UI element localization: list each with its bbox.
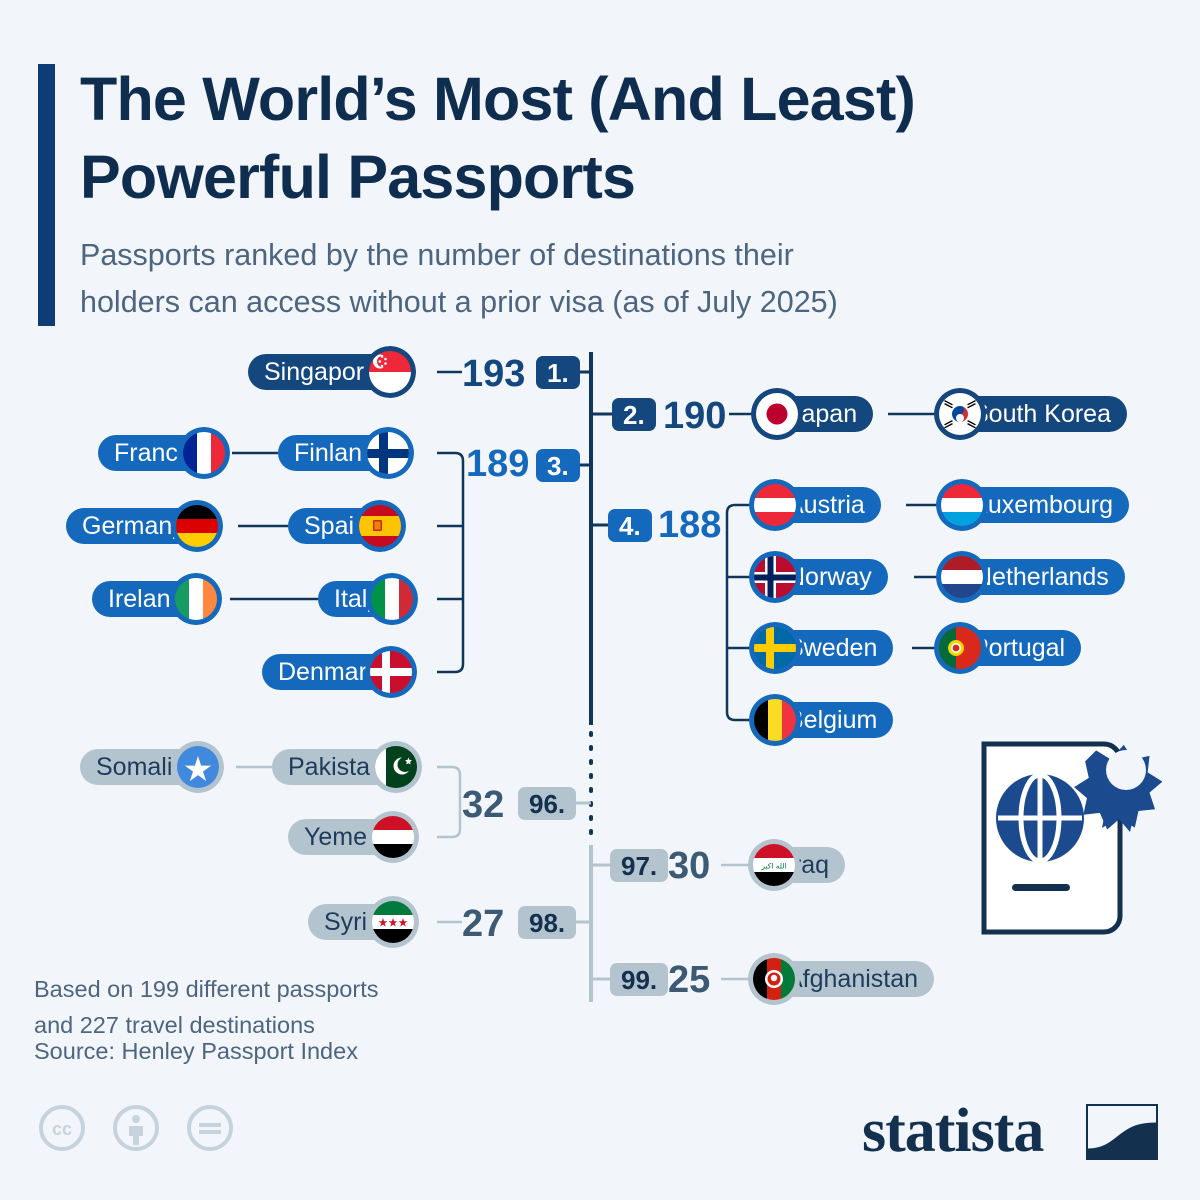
- flag-icon-ireland: [170, 573, 222, 625]
- chart-source: Source: Henley Passport Index: [34, 1038, 358, 1065]
- flag-icon-spain: [354, 500, 406, 552]
- flag-icon-south-korea: [934, 388, 986, 440]
- country-pill-syria[interactable]: Syria: [308, 904, 415, 940]
- flag-icon-france: [178, 427, 230, 479]
- country-pill-pakistan[interactable]: Pakistan: [272, 749, 418, 785]
- country-pill-afghanistan[interactable]: Afghanistan: [752, 961, 934, 997]
- flag-icon-sweden: [749, 622, 801, 674]
- flag-icon-finland: [362, 427, 414, 479]
- flag-icon-luxembourg: [936, 479, 988, 531]
- country-pill-italy[interactable]: Italy: [318, 581, 414, 617]
- value-188: 188: [658, 506, 721, 544]
- statista-logo[interactable]: statista: [862, 1096, 1162, 1170]
- rank-badge-4[interactable]: 4.: [608, 509, 652, 542]
- country-pill-france[interactable]: France: [98, 435, 226, 471]
- rank-badge-1[interactable]: 1.: [536, 356, 580, 389]
- country-pill-japan[interactable]: Japan: [755, 396, 873, 432]
- rank-badge-96[interactable]: 96.: [518, 787, 576, 820]
- country-pill-ireland[interactable]: Ireland: [92, 581, 218, 617]
- rank-badge-97[interactable]: 97.: [610, 849, 668, 882]
- value-190: 190: [663, 397, 726, 435]
- rank-badge-2[interactable]: 2.: [612, 398, 656, 431]
- country-pill-yemen[interactable]: Yemen: [288, 819, 415, 855]
- statista-wordmark: statista: [862, 1096, 1043, 1167]
- country-pill-portugal[interactable]: Portugal: [938, 630, 1081, 666]
- flag-icon-iraq: الله اكبر: [748, 839, 800, 891]
- flag-icon-belgium: [749, 694, 801, 746]
- flag-icon-japan: [751, 388, 803, 440]
- country-pill-denmark[interactable]: Denmark: [262, 654, 413, 690]
- flag-icon-afghanistan: [748, 953, 800, 1005]
- rank-badge-3[interactable]: 3.: [536, 449, 580, 482]
- passport-illustration: [966, 722, 1162, 950]
- flag-icon-denmark: [365, 646, 417, 698]
- flag-icon-italy: [366, 573, 418, 625]
- flag-icon-norway: [749, 551, 801, 603]
- country-pill-austria[interactable]: Austria: [753, 487, 881, 523]
- statista-wave-mark: [1086, 1104, 1158, 1160]
- rank-badge-98[interactable]: 98.: [518, 906, 576, 939]
- creative-commons-icon[interactable]: cc: [38, 1104, 86, 1152]
- flag-icon-portugal: [934, 622, 986, 674]
- value-25: 25: [668, 961, 710, 999]
- country-pill-finland[interactable]: Finland: [278, 435, 410, 471]
- country-pill-belgium[interactable]: Belgium: [753, 702, 893, 738]
- country-pill-south-korea[interactable]: South Korea: [938, 396, 1127, 432]
- flag-icon-austria: [749, 479, 801, 531]
- country-pill-sweden[interactable]: Sweden: [753, 630, 893, 666]
- country-pill-germany[interactable]: Germany: [66, 508, 219, 544]
- flag-icon-netherlands: [936, 551, 988, 603]
- flag-icon-yemen: [367, 811, 419, 863]
- country-pill-somalia[interactable]: Somalia: [80, 749, 220, 785]
- attribution-person-icon[interactable]: [112, 1104, 160, 1152]
- flag-icon-singapore: [364, 346, 416, 398]
- country-pill-spain[interactable]: Spain: [288, 508, 402, 544]
- footnote-line1: Based on 199 different passports: [34, 972, 554, 1008]
- value-27: 27: [462, 905, 504, 943]
- no-derivatives-equals-icon[interactable]: [186, 1104, 234, 1152]
- country-pill-norway[interactable]: Norway: [753, 559, 888, 595]
- flag-icon-syria: [367, 896, 419, 948]
- value-32: 32: [462, 786, 504, 824]
- country-pill-netherlands[interactable]: Netherlands: [940, 559, 1125, 595]
- value-193: 193: [462, 355, 525, 393]
- chart-footnote: Based on 199 different passports and 227…: [34, 972, 554, 1043]
- flag-icon-germany: [171, 500, 223, 552]
- license-icons: cc: [38, 1104, 234, 1152]
- flag-icon-pakistan: [370, 741, 422, 793]
- value-30: 30: [668, 847, 710, 885]
- rank-badge-99[interactable]: 99.: [610, 963, 668, 996]
- country-pill-luxembourg[interactable]: Luxembourg: [940, 487, 1129, 523]
- value-189: 189: [466, 445, 529, 483]
- flag-icon-somalia: [172, 741, 224, 793]
- svg-text:الله اكبر: الله اكبر: [760, 862, 786, 871]
- country-pill-singapore[interactable]: Singapore: [248, 354, 412, 390]
- svg-text:cc: cc: [52, 1119, 72, 1139]
- country-pill-iraq[interactable]: Iraq الله اكبر: [752, 847, 845, 883]
